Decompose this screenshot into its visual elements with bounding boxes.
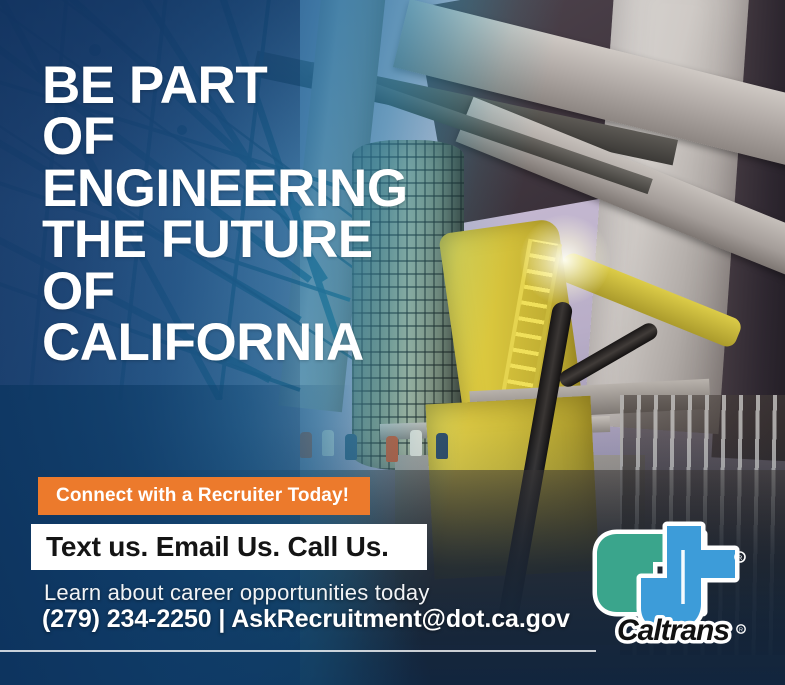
contact-details-line: (279) 234-2250 | AskRecruitment@dot.ca.g… bbox=[42, 605, 570, 634]
logo-wordmark: Caltrans Caltrans R bbox=[617, 614, 745, 645]
contact-methods-box: Text us. Email Us. Call Us. bbox=[31, 524, 427, 570]
recruiter-cta-label: Connect with a Recruiter Today! bbox=[38, 485, 349, 507]
caltrans-logo-svg: R Caltrans Caltrans R bbox=[583, 520, 768, 645]
page-title: BE PART OF ENGINEERING THE FUTURE OF CAL… bbox=[42, 60, 472, 368]
footer-divider-rule bbox=[0, 650, 596, 652]
svg-text:Caltrans: Caltrans bbox=[617, 614, 729, 645]
caltrans-recruitment-ad: BE PART OF ENGINEERING THE FUTURE OF CAL… bbox=[0, 0, 785, 685]
learn-more-label: Learn about career opportunities today bbox=[44, 580, 430, 606]
contact-methods-label: Text us. Email Us. Call Us. bbox=[31, 531, 389, 563]
recruiter-cta-banner[interactable]: Connect with a Recruiter Today! bbox=[38, 477, 370, 515]
svg-text:R: R bbox=[738, 555, 743, 562]
caltrans-logo[interactable]: R Caltrans Caltrans R bbox=[583, 520, 768, 645]
svg-text:R: R bbox=[739, 628, 743, 634]
